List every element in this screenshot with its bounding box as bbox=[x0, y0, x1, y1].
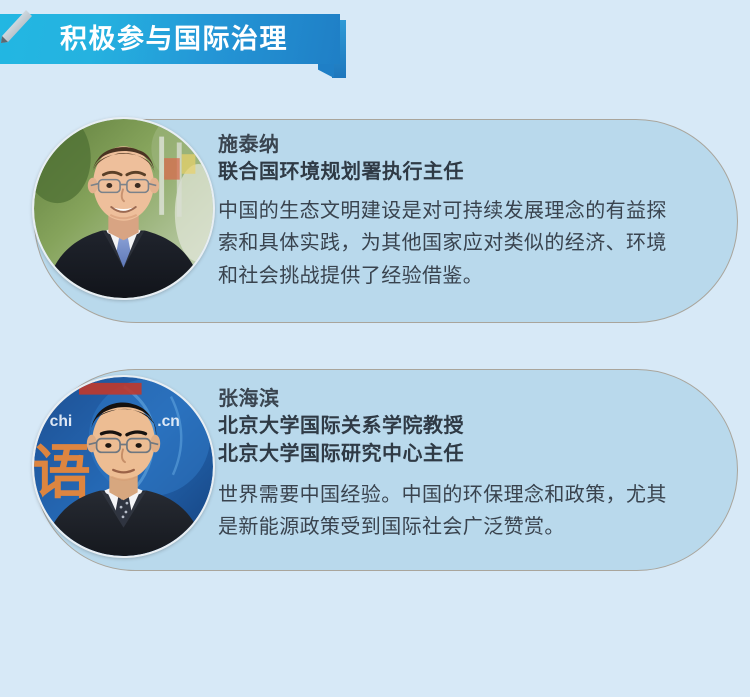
svg-text:chi: chi bbox=[50, 413, 73, 430]
portrait-photo-zhang: chi .cn 语 bbox=[34, 377, 213, 556]
person-title: 北京大学国际关系学院教授 bbox=[218, 413, 700, 441]
svg-text:语: 语 bbox=[34, 438, 91, 506]
header-banner: 积极参与国际治理 bbox=[0, 14, 360, 70]
card-text-block: 张海滨 北京大学国际关系学院教授 北京大学国际研究中心主任 世界需要中国经验。中… bbox=[218, 385, 700, 543]
ribbon-fold-notch bbox=[318, 64, 334, 78]
avatar: chi .cn 语 bbox=[32, 375, 215, 558]
card-text-block: 施泰纳 联合国环境规划署执行主任 中国的生态文明建设是对可持续发展理念的有益探索… bbox=[218, 131, 700, 292]
quote-text: 中国的生态文明建设是对可持续发展理念的有益探索和具体实践，为其他国家应对类似的经… bbox=[218, 195, 683, 292]
portrait-photo-stiner bbox=[34, 119, 213, 298]
person-title: 联合国环境规划署执行主任 bbox=[218, 159, 700, 187]
person-title-secondary: 北京大学国际研究中心主任 bbox=[218, 441, 700, 469]
page-title: 积极参与国际治理 bbox=[46, 26, 294, 53]
banner-bar: 积极参与国际治理 bbox=[0, 14, 340, 64]
avatar bbox=[32, 117, 215, 300]
svg-text:.cn: .cn bbox=[157, 413, 180, 430]
person-name: 张海滨 bbox=[218, 385, 700, 413]
quote-text: 世界需要中国经验。中国的环保理念和政策，尤其是新能源政策受到国际社会广泛赞赏。 bbox=[218, 479, 673, 544]
person-name: 施泰纳 bbox=[218, 131, 700, 159]
